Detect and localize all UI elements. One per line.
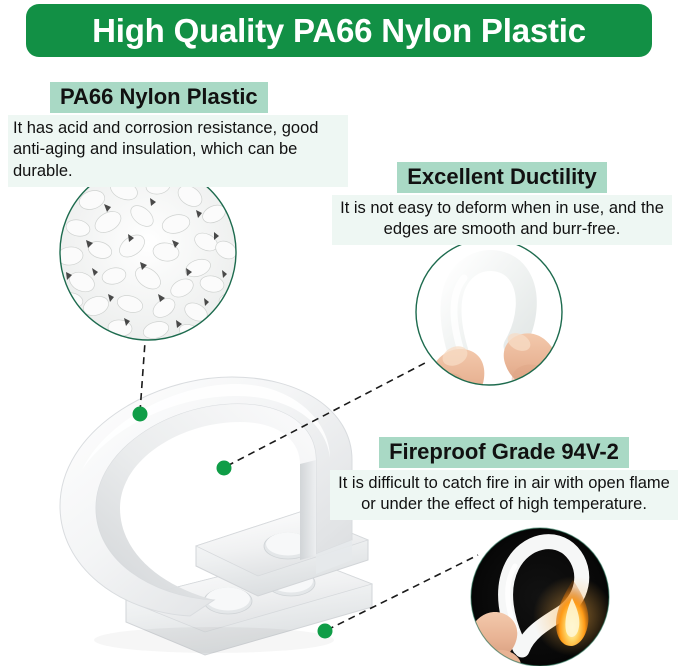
feature-title-pa66: PA66 Nylon Plastic [50, 82, 268, 113]
banner-title: High Quality PA66 Nylon Plastic [92, 12, 586, 50]
callout-dot-bend [217, 461, 232, 476]
feature-body-ductility: It is not easy to deform when in use, an… [332, 195, 672, 246]
photo-flame-test [471, 528, 613, 666]
callout-dot-flame [318, 624, 333, 639]
feature-body-pa66: It has acid and corrosion resistance, go… [8, 115, 348, 188]
feature-block-pa66: PA66 Nylon Plastic It has acid and corro… [8, 82, 348, 187]
infographic-page: High Quality PA66 Nylon Plastic PA66 Nyl… [0, 0, 679, 666]
feature-body-fireproof: It is difficult to catch fire in air wit… [330, 470, 678, 521]
callout-dot-pellets [133, 407, 148, 422]
header-banner: High Quality PA66 Nylon Plastic [26, 4, 652, 57]
product-illustration [60, 377, 372, 655]
feature-block-fireproof: Fireproof Grade 94V-2 It is difficult to… [330, 437, 678, 520]
feature-block-ductility: Excellent Ductility It is not easy to de… [332, 162, 672, 245]
feature-title-fireproof: Fireproof Grade 94V-2 [379, 437, 629, 468]
feature-title-ductility: Excellent Ductility [397, 162, 607, 193]
photo-pellets [56, 164, 242, 342]
photo-bend-test [416, 239, 562, 410]
